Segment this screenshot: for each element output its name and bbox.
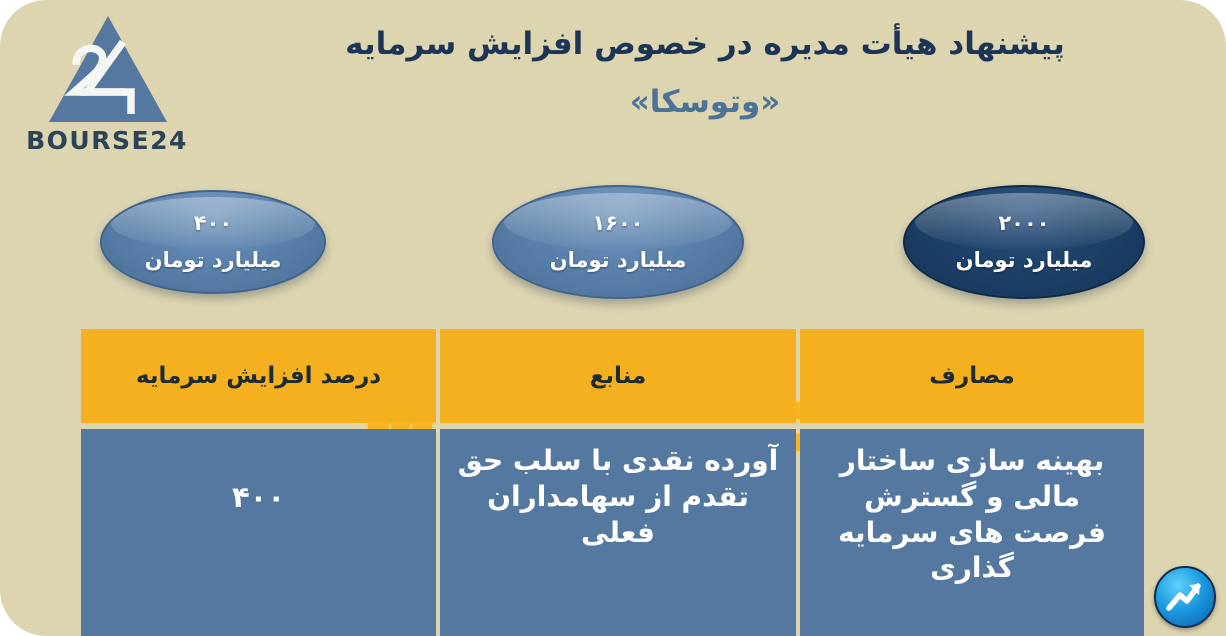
equation-term-current-capital: ۴۰۰ میلیارد تومان xyxy=(100,190,326,294)
equation-term-unit: میلیارد تومان xyxy=(550,249,687,272)
equation-term-amount: ۲۰۰۰ xyxy=(998,212,1049,235)
table-cell-percent: ۴۰۰ xyxy=(81,429,436,636)
table-row: بهینه سازی ساختار مالی و گسترش فرصت های … xyxy=(81,429,1144,636)
equation-term-amount: ۱۶۰۰ xyxy=(592,212,643,235)
table-header-row: مصارف منابع درصد افزایش سرمایه xyxy=(81,329,1144,423)
equation-term-unit: میلیارد تومان xyxy=(145,249,282,272)
table-header-percent: درصد افزایش سرمایه xyxy=(81,329,436,423)
capital-increase-table: مصارف منابع درصد افزایش سرمایه بهینه ساز… xyxy=(81,329,1144,636)
trending-up-chart-icon xyxy=(1154,566,1216,628)
infographic-canvas: BOURSE24 پیشنهاد هیأت مدیره در خصوص افزا… xyxy=(0,0,1226,636)
brand-wordmark: BOURSE24 xyxy=(22,128,192,153)
table-header-sources: منابع xyxy=(440,329,796,423)
title-block: پیشنهاد هیأت مدیره در خصوص افزایش سرمایه… xyxy=(200,24,1210,124)
infographic-board: BOURSE24 پیشنهاد هیأت مدیره در خصوص افزا… xyxy=(0,0,1226,636)
brand-logo: BOURSE24 xyxy=(22,14,192,166)
equation-term-new-capital: ۲۰۰۰ میلیارد تومان xyxy=(903,185,1145,299)
page-subtitle: «وتوسکا» xyxy=(200,82,1210,124)
table-header-uses: مصارف xyxy=(800,329,1144,423)
table-cell-uses: بهینه سازی ساختار مالی و گسترش فرصت های … xyxy=(800,429,1144,636)
table-cell-sources: آورده نقدی با سلب حق تقدم از سهامداران ف… xyxy=(440,429,796,636)
page-title: پیشنهاد هیأت مدیره در خصوص افزایش سرمایه xyxy=(200,24,1210,66)
equation-term-unit: میلیارد تومان xyxy=(956,249,1093,272)
bourse24-triangle-logo-icon xyxy=(47,14,169,124)
capital-equation: ۲۰۰۰ میلیارد تومان ۱۶۰۰ میلیارد تومان xyxy=(0,176,1226,306)
equation-term-amount: ۴۰۰ xyxy=(194,212,232,235)
equation-term-capital-increase: ۱۶۰۰ میلیارد تومان xyxy=(492,185,744,299)
